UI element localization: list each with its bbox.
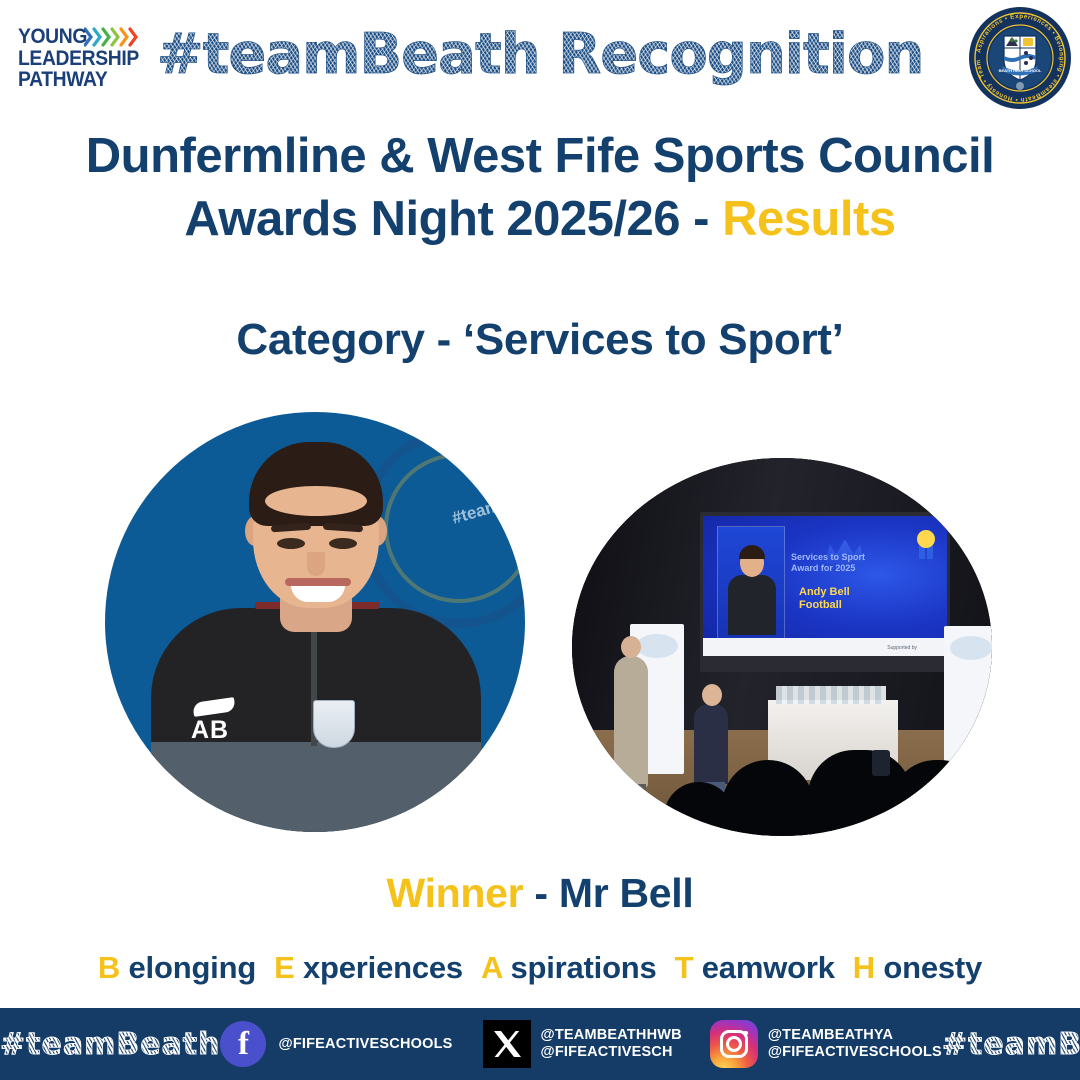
x-twitter-handle: @TEAMBEATHHWB bbox=[541, 1027, 682, 1044]
value-item: B elonging bbox=[98, 950, 256, 985]
value-letter: A bbox=[481, 950, 502, 985]
portrait-smile bbox=[291, 582, 345, 602]
main-title-results-highlight: Results bbox=[722, 192, 896, 246]
slide-award-title-line-2: Award for 2025 bbox=[791, 563, 865, 574]
footer-hashtag-right: #teamBeath bbox=[942, 1027, 1080, 1062]
projection-screen: Services to Sport Award for 2025 Andy Be… bbox=[703, 516, 947, 656]
person-standing-left bbox=[614, 656, 648, 788]
value-letter: T bbox=[675, 950, 694, 985]
value-letter: B bbox=[98, 950, 120, 985]
svg-text:BEATH HIGH SCHOOL: BEATH HIGH SCHOOL bbox=[999, 68, 1042, 73]
portrait-jacket-lower bbox=[151, 742, 481, 832]
x-twitter-handle: @FIFEACTIVESCH bbox=[541, 1044, 682, 1061]
portrait-hair bbox=[249, 442, 383, 526]
value-word: onesty bbox=[883, 950, 982, 985]
slide-award-title-line-1: Services to Sport bbox=[791, 552, 865, 563]
slide-winner-name: Andy Bell bbox=[799, 586, 850, 599]
awards-night-event-photo: Services to Sport Award for 2025 Andy Be… bbox=[572, 458, 992, 836]
beath-values-acrostic: B elongingE xperiencesA spirationsT eamw… bbox=[0, 950, 1080, 986]
social-x-twitter[interactable]: @TEAMBEATHHWB @FIFEACTIVESCH bbox=[483, 1020, 682, 1068]
slide-rosette-icon bbox=[915, 530, 937, 560]
slide-winner-sport: Football bbox=[799, 599, 850, 612]
main-title-line-1: Dunfermline & West Fife Sports Council bbox=[0, 125, 1080, 188]
page-title-text: #teamBeath Recognition bbox=[157, 22, 924, 87]
winner-portrait-photo: #teamBea AB bbox=[105, 412, 525, 832]
award-category-line: Category - ‘Services to Sport’ bbox=[0, 315, 1080, 365]
slide-footer-bar: Supported by bbox=[703, 638, 947, 656]
facebook-handle: @FIFEACTIVESCHOOLS bbox=[278, 1036, 452, 1053]
instagram-handles: @TEAMBEATHYA @FIFEACTIVESCHOOLS bbox=[768, 1027, 942, 1061]
value-item: H onesty bbox=[853, 950, 982, 985]
footer-hashtag-right-wrap: #teamBeath bbox=[942, 1027, 1080, 1062]
social-facebook[interactable]: f @FIFEACTIVESCHOOLS bbox=[220, 1021, 452, 1067]
value-item: A spirations bbox=[481, 950, 657, 985]
footer-social-bar: #teamBeath f @FIFEACTIVESCHOOLS @TEAMBEA… bbox=[0, 1008, 1080, 1080]
value-letter: E bbox=[274, 950, 294, 985]
x-twitter-icon[interactable] bbox=[483, 1020, 531, 1068]
main-title-line-2: Awards Night 2025/26 - Results bbox=[0, 188, 1080, 251]
instagram-icon[interactable] bbox=[710, 1020, 758, 1068]
portrait-eye-right bbox=[329, 538, 357, 549]
value-letter: H bbox=[853, 950, 875, 985]
value-item: E xperiences bbox=[274, 950, 463, 985]
value-word: spirations bbox=[510, 950, 656, 985]
instagram-handle: @TEAMBEATHYA bbox=[768, 1027, 942, 1044]
winner-separator: - bbox=[523, 870, 559, 916]
footer-hashtag-left-wrap: #teamBeath bbox=[0, 1027, 220, 1062]
school-crest-badge-icon: Aspirations • Experiences • Belonging • … bbox=[968, 6, 1072, 110]
page-title-hashtag: #teamBeath Recognition bbox=[0, 22, 1080, 87]
trophies-on-table bbox=[776, 686, 886, 704]
slide-award-title: Services to Sport Award for 2025 bbox=[791, 552, 865, 574]
person-presenting bbox=[694, 704, 728, 784]
slide-winner-photo bbox=[717, 526, 785, 642]
portrait-eye-left bbox=[277, 538, 305, 549]
slide-supported-by-label: Supported by bbox=[887, 645, 917, 651]
jacket-initials: AB bbox=[191, 716, 229, 745]
value-word: xperiences bbox=[303, 950, 463, 985]
footer-hashtag-left: #teamBeath bbox=[0, 1027, 220, 1062]
facebook-icon[interactable]: f bbox=[220, 1021, 266, 1067]
page-main-title: Dunfermline & West Fife Sports Council A… bbox=[0, 125, 1080, 251]
audience-phone-icon bbox=[872, 750, 890, 776]
portrait-nose bbox=[307, 552, 325, 576]
main-title-line-2-prefix: Awards Night 2025/26 - bbox=[184, 192, 722, 246]
winner-name: Mr Bell bbox=[559, 870, 694, 916]
social-instagram[interactable]: @TEAMBEATHYA @FIFEACTIVESCHOOLS bbox=[710, 1020, 942, 1068]
jacket-school-crest-icon bbox=[313, 700, 355, 748]
winner-announcement: Winner - Mr Bell bbox=[0, 870, 1080, 917]
x-twitter-handles: @TEAMBEATHHWB @FIFEACTIVESCH bbox=[541, 1027, 682, 1061]
header: YOUNG LEADERSHIP PATHWAY #teamBeath Reco… bbox=[0, 0, 1080, 118]
slide-winner-name-block: Andy Bell Football bbox=[799, 586, 850, 612]
instagram-handle: @FIFEACTIVESCHOOLS bbox=[768, 1044, 942, 1061]
roller-banner-right bbox=[944, 626, 992, 766]
value-word: eamwork bbox=[702, 950, 835, 985]
value-item: T eamwork bbox=[675, 950, 835, 985]
winner-label: Winner bbox=[387, 870, 524, 916]
value-word: elonging bbox=[129, 950, 257, 985]
facebook-handles: @FIFEACTIVESCHOOLS bbox=[278, 1036, 452, 1053]
